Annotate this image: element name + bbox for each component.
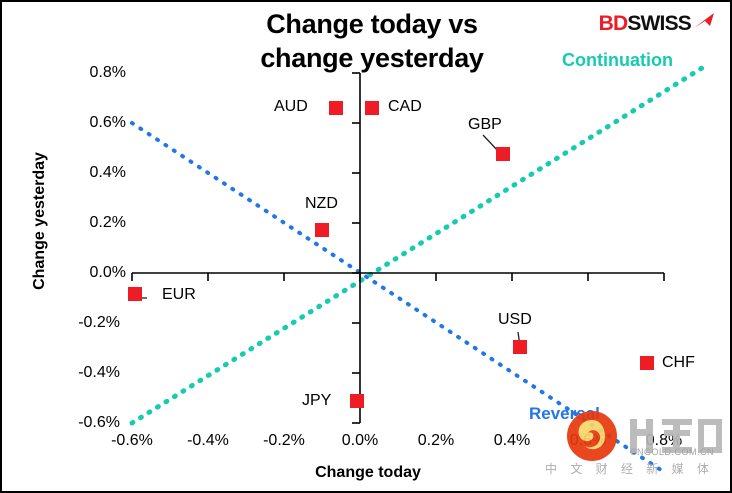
x-axis-ticks bbox=[132, 273, 664, 281]
y-tick-label-7: -0.6% bbox=[58, 414, 120, 432]
x-tick-label-1: -0.4% bbox=[173, 432, 243, 450]
x-tick-label-0: -0.6% bbox=[97, 432, 167, 450]
x-tick-label-5: 0.4% bbox=[477, 432, 547, 450]
data-point-gbp[interactable] bbox=[496, 147, 510, 161]
y-axis-ticks bbox=[352, 73, 360, 423]
y-tick-label-4: 0.0% bbox=[64, 264, 126, 282]
label-leader-lines bbox=[135, 135, 520, 346]
data-label-cad: CAD bbox=[388, 98, 422, 116]
data-label-jpy: JPY bbox=[302, 392, 331, 410]
y-tick-label-2: 0.4% bbox=[64, 164, 126, 182]
data-label-usd: USD bbox=[498, 311, 532, 329]
data-label-eur: EUR bbox=[162, 286, 196, 304]
y-tick-label-0: 0.8% bbox=[64, 64, 126, 82]
data-point-eur[interactable] bbox=[128, 287, 142, 301]
y-tick-label-1: 0.6% bbox=[64, 114, 126, 132]
data-label-aud: AUD bbox=[274, 98, 308, 116]
data-label-nzd: NZD bbox=[305, 195, 338, 213]
chart-screenshot: Change today vs change yesterday BDSWISS… bbox=[0, 0, 732, 493]
y-tick-label-6: -0.4% bbox=[58, 364, 120, 382]
data-label-chf: CHF bbox=[662, 354, 695, 372]
data-point-chf[interactable] bbox=[640, 356, 654, 370]
data-point-aud[interactable] bbox=[329, 101, 343, 115]
x-tick-label-2: -0.2% bbox=[249, 432, 319, 450]
watermark-site-text: CNGOLD.COM.CN bbox=[630, 447, 714, 457]
x-tick-label-4: 0.2% bbox=[401, 432, 471, 450]
annotation-continuation: Continuation bbox=[562, 50, 673, 71]
y-tick-label-3: 0.2% bbox=[64, 214, 126, 232]
data-point-jpy[interactable] bbox=[350, 394, 364, 408]
data-point-cad[interactable] bbox=[365, 101, 379, 115]
y-tick-label-5: -0.2% bbox=[58, 314, 120, 332]
data-point-nzd[interactable] bbox=[315, 223, 329, 237]
cngold-watermark: CNGOLD.COM.CN 中 文 财 经 新 媒 体 bbox=[564, 409, 724, 485]
data-label-gbp: GBP bbox=[468, 116, 502, 134]
data-point-usd[interactable] bbox=[513, 340, 527, 354]
x-tick-label-3: 0.0% bbox=[325, 432, 395, 450]
continuation-trend-line bbox=[132, 68, 702, 423]
watermark-tagline-text: 中 文 财 经 新 媒 体 bbox=[545, 460, 714, 477]
